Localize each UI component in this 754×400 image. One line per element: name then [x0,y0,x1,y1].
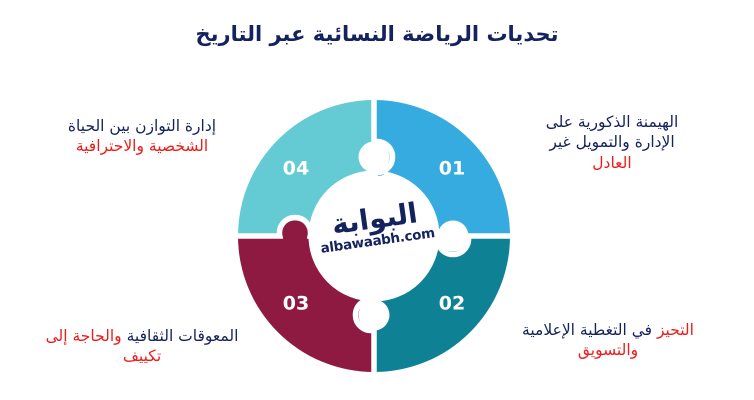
piece-number-04: 04 [283,158,309,180]
callout-01-line2: الإدارة والتمويل غير [478,132,746,152]
callout-01-line3: العادل [478,153,746,173]
callout-04-red: الشخصية والاحترافية [10,136,274,156]
callout-03-red-2: تكييف [8,346,276,366]
callout-02-red-2: والتسويق [470,340,746,360]
callout-03-red-1: والحاجة إلى [46,327,122,345]
piece-number-03: 03 [283,293,309,315]
callout-01: الهيمنة الذكورية على الإدارة والتمويل غي… [478,112,746,173]
callout-02: التحيز في التغطية الإعلامية والتسويق [470,320,746,361]
piece-number-01: 01 [439,158,465,180]
callout-02-red-1: التحيز [657,321,694,339]
callout-03-navy: المعوقات الثقافية [127,327,239,345]
callout-03: المعوقات الثقافية والحاجة إلى تكييف [8,326,276,367]
callout-03-line1: المعوقات الثقافية والحاجة إلى [8,326,276,346]
piece-number-02: 02 [439,293,465,315]
callout-04: إدارة التوازن بين الحياة الشخصية والاحتر… [10,116,274,157]
callout-02-navy: في التغطية الإعلامية [522,321,652,339]
page-title: تحديات الرياضة النسائية عبر التاريخ [0,22,754,46]
callout-02-line1: التحيز في التغطية الإعلامية [470,320,746,340]
callout-01-line1: الهيمنة الذكورية على [478,112,746,132]
wheel-inner-hole [310,172,438,300]
callout-04-navy: إدارة التوازن بين الحياة [10,116,274,136]
